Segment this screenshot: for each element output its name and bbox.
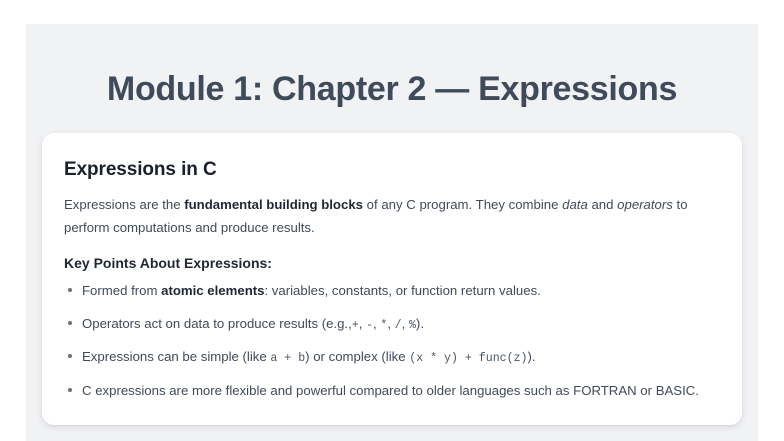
page-title: Module 1: Chapter 2 — Expressions: [26, 24, 758, 109]
list-item: Formed from atomic elements: variables, …: [64, 281, 720, 301]
code-operator-percent: %: [409, 319, 416, 332]
bullet-2-text-part-1: Operators act on data to produce results…: [82, 316, 352, 331]
intro-italic-data: data: [562, 197, 588, 212]
card-heading: Expressions in C: [64, 159, 720, 181]
code-operator-minus: -: [366, 319, 373, 332]
intro-italic-operators: operators: [617, 197, 673, 212]
bullet-4-text: C expressions are more flexible and powe…: [82, 383, 699, 398]
bullet-3-text-part-2: ) or complex (like: [305, 349, 409, 364]
intro-text-part-3: and: [588, 197, 617, 212]
card-expressions: Expressions in C Expressions are the fun…: [42, 133, 742, 425]
bullet-2-sep-1: ,: [359, 316, 366, 331]
code-complex-expression: (x * y) + func(z): [409, 352, 527, 365]
list-item: Operators act on data to produce results…: [64, 314, 720, 334]
key-points-list: Formed from atomic elements: variables, …: [64, 281, 720, 400]
intro-text-part-2: of any C program. They combine: [363, 197, 562, 212]
bullet-2-text-part-2: ).: [416, 316, 424, 331]
key-points-subheading: Key Points About Expressions:: [64, 255, 720, 271]
bullet-3-text-part-1: Expressions can be simple (like: [82, 349, 270, 364]
list-item: C expressions are more flexible and powe…: [64, 381, 720, 401]
bullet-1-text-part-2: : variables, constants, or function retu…: [264, 283, 540, 298]
page-container: Module 1: Chapter 2 — Expressions Expres…: [26, 24, 758, 441]
code-operator-slash: /: [395, 319, 402, 332]
bullet-2-sep-3: ,: [387, 316, 394, 331]
bullet-1-text-part-1: Formed from: [82, 283, 161, 298]
list-item: Expressions can be simple (like a + b) o…: [64, 347, 720, 367]
bullet-2-sep-4: ,: [402, 316, 409, 331]
code-operator-plus: +: [352, 319, 359, 332]
intro-paragraph: Expressions are the fundamental building…: [64, 193, 694, 239]
intro-bold-fundamental-building-blocks: fundamental building blocks: [184, 197, 363, 212]
bullet-3-text-part-3: ).: [528, 349, 536, 364]
code-simple-expression: a + b: [270, 352, 305, 365]
bullet-1-bold-atomic-elements: atomic elements: [161, 283, 264, 298]
intro-text-part-1: Expressions are the: [64, 197, 184, 212]
